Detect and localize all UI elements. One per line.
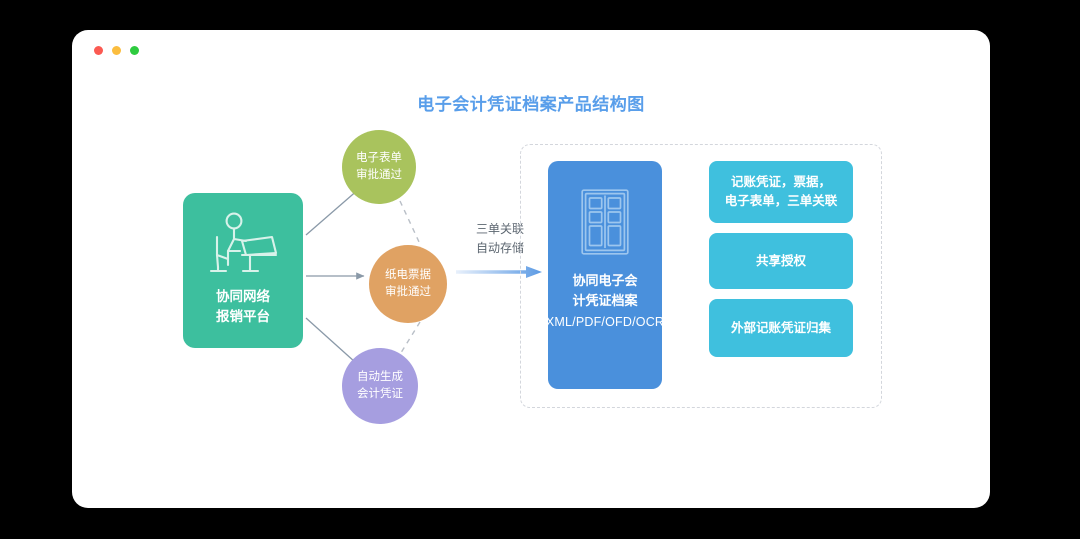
person-at-desk-icon — [206, 211, 280, 277]
archive-label-line2: 计凭证档案 — [572, 293, 637, 308]
circle-paper-line1: 纸电票据 — [385, 269, 431, 281]
feature-external-voucher-collection[interactable]: 外部记账凭证归集 — [709, 299, 853, 357]
platform-label-line2: 报销平台 — [216, 309, 270, 324]
circle-auto-line1: 自动生成 — [357, 371, 403, 383]
archive-card[interactable]: 协同电子会 计凭证档案 XML/PDF/OFD/OCR — [548, 161, 662, 389]
screenshot-root: 电子会计凭证档案产品结构图 — [0, 0, 1080, 539]
circle-auto-line2: 会计凭证 — [357, 388, 403, 400]
feature-0-line1: 记账凭证，票据， — [731, 175, 831, 189]
circle-form-line1: 电子表单 — [356, 152, 402, 164]
product-structure-diagram: 协同网络 报销平台 电子表单 审批通过 纸电票据 审批通过 自动生成 — [72, 30, 990, 508]
circle-paper-line2: 审批通过 — [385, 286, 431, 298]
feature-vouchers-invoices-forms[interactable]: 记账凭证，票据， 电子表单，三单关联 — [709, 161, 853, 223]
circle-form-line2: 审批通过 — [356, 169, 402, 181]
feature-2-line1: 外部记账凭证归集 — [731, 321, 831, 335]
middle-note-line1: 三单关联 — [476, 222, 524, 236]
feature-0-line2: 电子表单，三单关联 — [725, 194, 838, 208]
browser-card: 电子会计凭证档案产品结构图 — [72, 30, 990, 508]
platform-label-line1: 协同网络 — [216, 289, 270, 304]
archive-formats: XML/PDF/OFD/OCR — [546, 314, 664, 332]
middle-note-line2: 自动存储 — [476, 241, 524, 255]
feature-share-authorization[interactable]: 共享授权 — [709, 233, 853, 289]
filing-cabinet-icon — [581, 189, 629, 255]
circle-paper-invoice-approval[interactable]: 纸电票据 审批通过 — [369, 245, 447, 323]
circle-electronic-form-approval[interactable]: 电子表单 审批通过 — [342, 130, 416, 204]
archive-label-line1: 协同电子会 — [572, 273, 637, 288]
circle-auto-voucher[interactable]: 自动生成 会计凭证 — [342, 348, 418, 424]
feature-1-line1: 共享授权 — [756, 254, 806, 268]
archive-label: 协同电子会 计凭证档案 — [572, 271, 637, 310]
platform-card[interactable]: 协同网络 报销平台 — [183, 193, 303, 348]
platform-label: 协同网络 报销平台 — [216, 287, 270, 326]
